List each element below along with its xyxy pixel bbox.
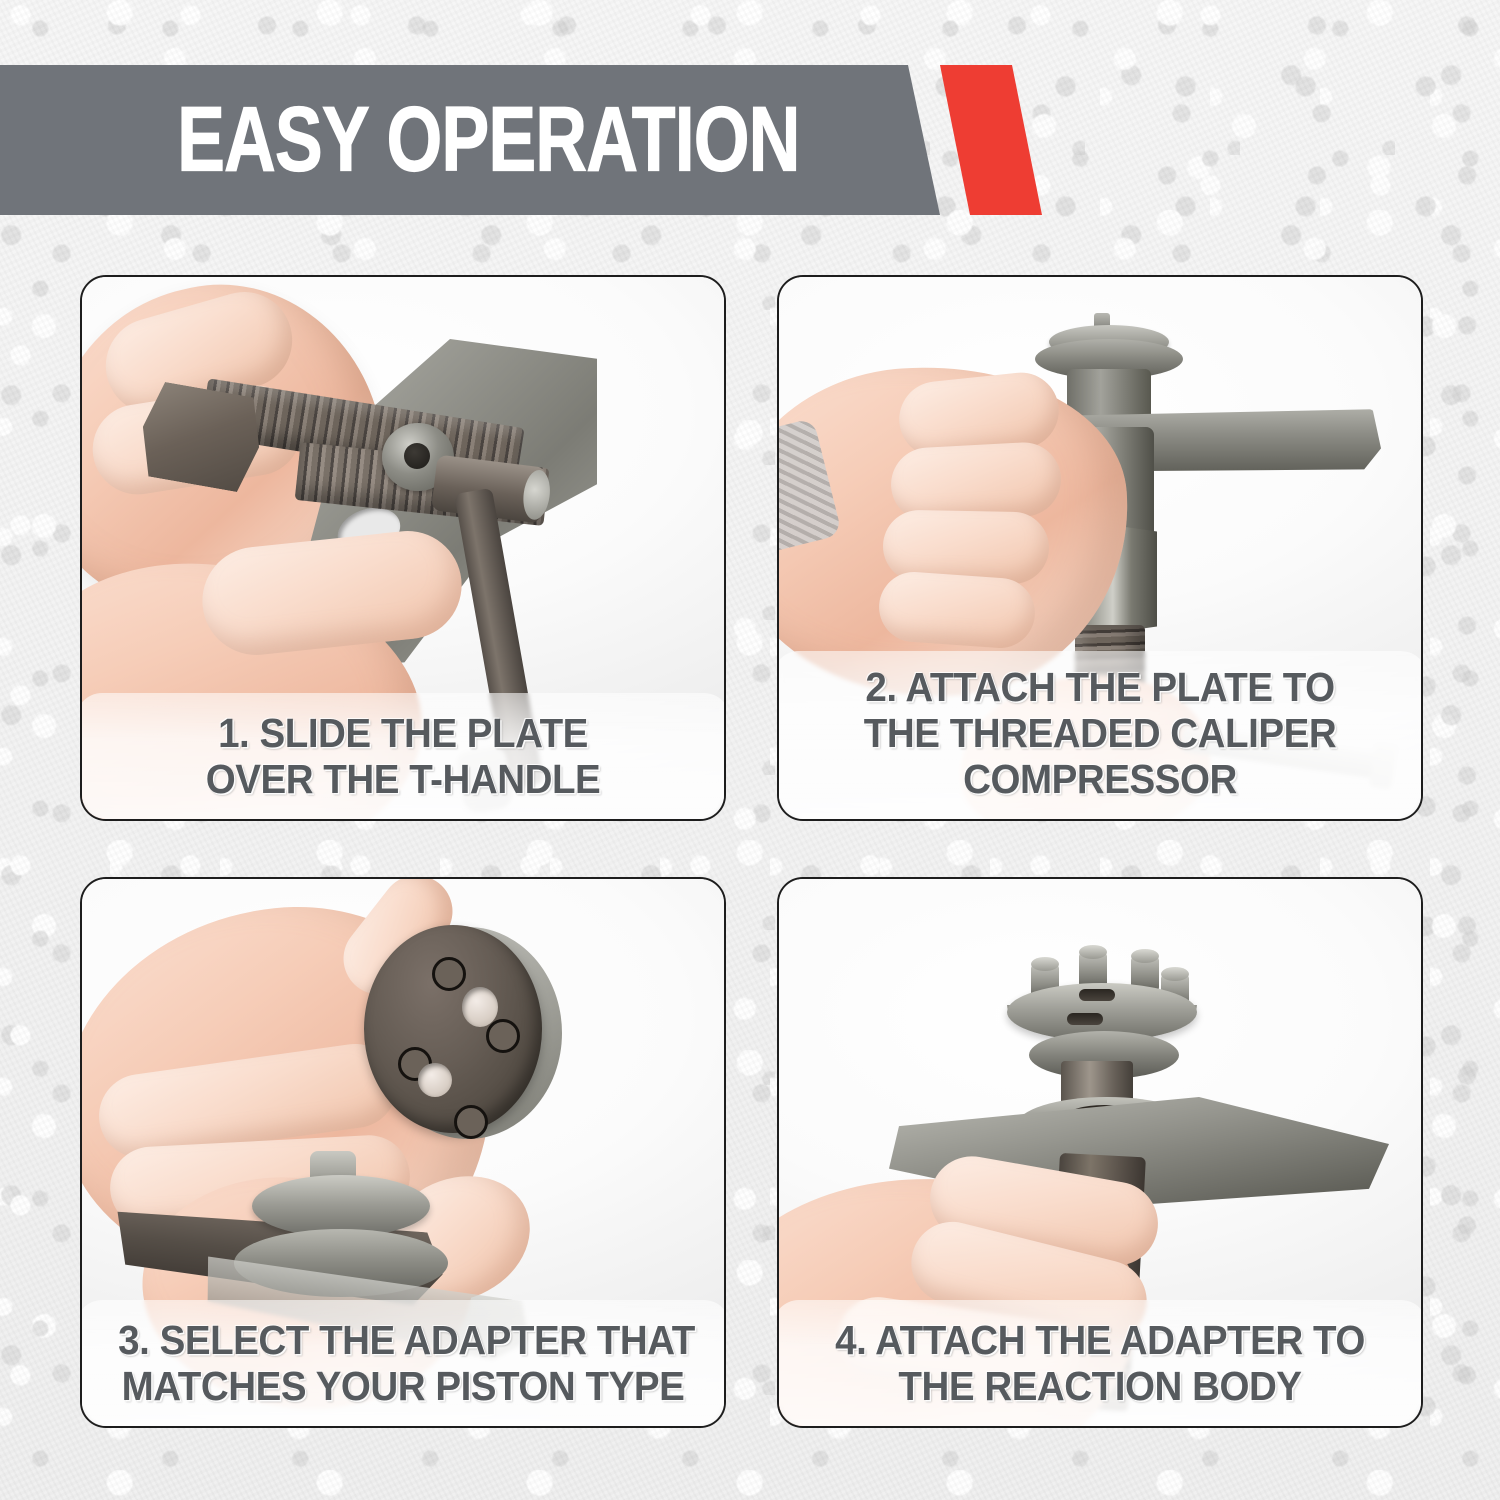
page-title-text: EASY OPERATION: [177, 92, 799, 184]
caption-line: 4. ATTACH THE ADAPTER TO: [815, 1318, 1385, 1364]
page-title: EASY OPERATION: [150, 99, 827, 177]
step-3-caption: 3. SELECT THE ADAPTER THAT MATCHES YOUR …: [80, 1300, 726, 1428]
stack-disc-upper: [252, 1175, 430, 1237]
step-2-caption: 2. ATTACH THE PLATE TO THE THREADED CALI…: [777, 651, 1423, 821]
caption-line: THE REACTION BODY: [815, 1364, 1385, 1410]
adapter-pin-hole: [432, 957, 466, 991]
steps-grid: 1. SLIDE THE PLATE OVER THE T-HANDLE 2.: [80, 275, 1423, 1428]
adapter-slot-lower: [1067, 1013, 1103, 1025]
step-card-3[interactable]: 3. SELECT THE ADAPTER THAT MATCHES YOUR …: [80, 877, 726, 1428]
finger-pinky: [877, 570, 1038, 651]
caption-line: 3. SELECT THE ADAPTER THAT: [118, 1318, 688, 1364]
adapter-center-hole-upper: [462, 987, 498, 1027]
adapter-pin-hole: [454, 1105, 488, 1139]
adapter-slot-upper: [1079, 989, 1115, 1001]
caption-line: OVER THE T-HANDLE: [118, 757, 688, 803]
step-card-1[interactable]: 1. SLIDE THE PLATE OVER THE T-HANDLE: [80, 275, 726, 821]
banner-red-stripe: [930, 65, 1050, 215]
step-card-4[interactable]: 4. ATTACH THE ADAPTER TO THE REACTION BO…: [777, 877, 1423, 1428]
caption-line: COMPRESSOR: [815, 757, 1385, 803]
caption-line: 2. ATTACH THE PLATE TO: [815, 665, 1385, 711]
adapter-pin-hole: [486, 1019, 520, 1053]
caption-line: THE THREADED CALIPER: [815, 711, 1385, 757]
caption-line: MATCHES YOUR PISTON TYPE: [118, 1364, 688, 1410]
step-1-caption: 1. SLIDE THE PLATE OVER THE T-HANDLE: [80, 693, 726, 821]
caption-line: 1. SLIDE THE PLATE: [118, 711, 688, 757]
adapter-center-hole-lower: [418, 1063, 452, 1097]
step-card-2[interactable]: 2. ATTACH THE PLATE TO THE THREADED CALI…: [777, 275, 1423, 821]
step-4-caption: 4. ATTACH THE ADAPTER TO THE REACTION BO…: [777, 1300, 1423, 1428]
header-banner: EASY OPERATION: [0, 65, 1100, 215]
